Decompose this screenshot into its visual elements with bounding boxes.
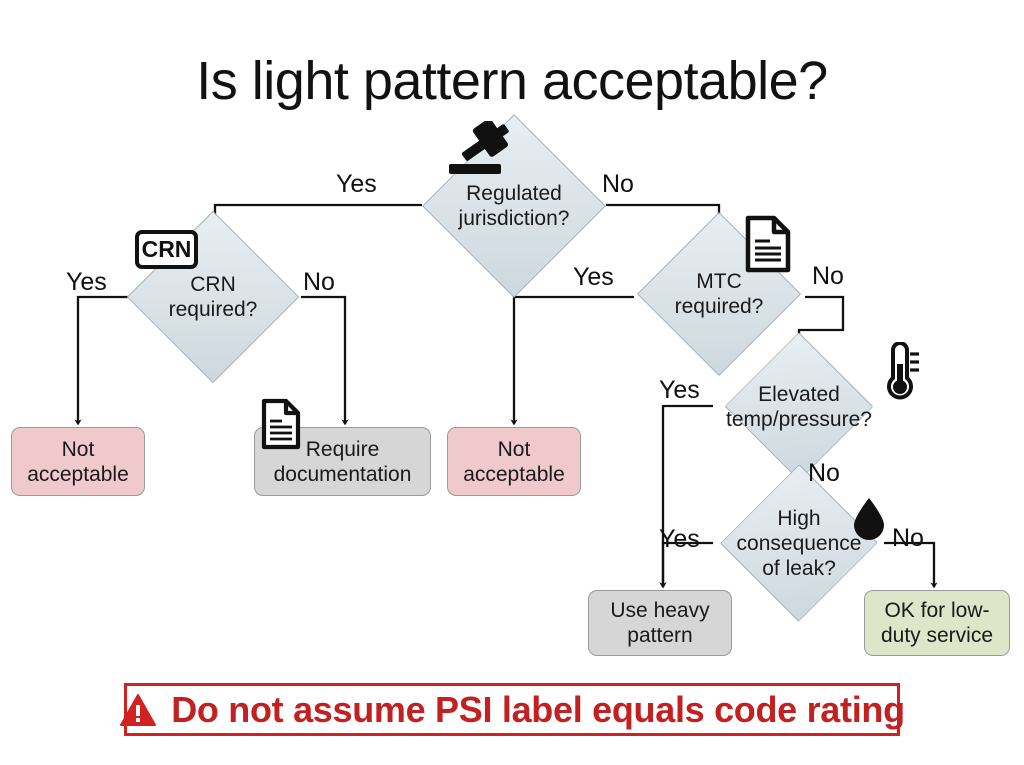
document-icon bbox=[744, 215, 792, 278]
terminal-label: Not acceptable bbox=[27, 437, 129, 487]
terminal-label-line2: documentation bbox=[274, 462, 412, 487]
edge-label-mtc-yes: Yes bbox=[573, 263, 614, 292]
edge-label-elevated-yes: Yes bbox=[659, 376, 700, 405]
terminal-label: Not acceptable bbox=[463, 437, 565, 487]
edge-crn-no bbox=[301, 297, 345, 424]
edge-label-regulated-yes: Yes bbox=[336, 170, 377, 199]
warning-triangle-icon bbox=[119, 693, 157, 727]
terminal-label-line2: acceptable bbox=[27, 462, 129, 487]
terminal-label-line1: OK for low- bbox=[881, 598, 993, 623]
terminal-label-line2: pattern bbox=[610, 623, 709, 648]
terminal-label-line2: acceptable bbox=[463, 462, 565, 487]
terminal-label: Use heavy pattern bbox=[610, 598, 709, 648]
droplet-icon bbox=[850, 495, 888, 546]
terminal-not-acceptable-left[interactable]: Not acceptable bbox=[11, 427, 145, 496]
edge-mtc-yes bbox=[514, 297, 634, 424]
edge-label-crn-yes: Yes bbox=[66, 268, 107, 297]
edge-label-elevated-no: No bbox=[808, 459, 840, 488]
edge-label-mtc-no: No bbox=[812, 262, 844, 291]
terminal-not-acceptable-middle[interactable]: Not acceptable bbox=[447, 427, 581, 496]
terminal-ok-low-duty-service[interactable]: OK for low- duty service bbox=[864, 590, 1010, 656]
edge-label-regulated-no: No bbox=[602, 170, 634, 199]
terminal-label: OK for low- duty service bbox=[881, 598, 993, 648]
edge-label-crn-no: No bbox=[303, 268, 335, 297]
gavel-icon bbox=[441, 121, 527, 192]
warning-banner: Do not assume PSI label equals code rati… bbox=[124, 683, 900, 736]
edge-crn-yes bbox=[78, 297, 128, 424]
warning-banner-text: Do not assume PSI label equals code rati… bbox=[171, 689, 905, 731]
terminal-use-heavy-pattern[interactable]: Use heavy pattern bbox=[588, 590, 732, 656]
terminal-label-line1: Not bbox=[463, 437, 565, 462]
terminal-label-line1: Use heavy bbox=[610, 598, 709, 623]
thermometer-icon bbox=[876, 342, 920, 409]
crn-badge-icon: CRN bbox=[135, 230, 198, 269]
edge-label-consequence-no: No bbox=[892, 524, 924, 553]
terminal-label-line2: duty service bbox=[881, 623, 993, 648]
edge-label-consequence-yes: Yes bbox=[659, 525, 700, 554]
edge-elevated-yes bbox=[663, 406, 713, 587]
decision-elevated-temp-pressure[interactable]: Elevated temp/pressure? bbox=[726, 355, 872, 458]
document-icon bbox=[260, 398, 302, 455]
terminal-label-line1: Not bbox=[27, 437, 129, 462]
flowchart-canvas: Is light pattern acceptable? bbox=[0, 0, 1024, 765]
